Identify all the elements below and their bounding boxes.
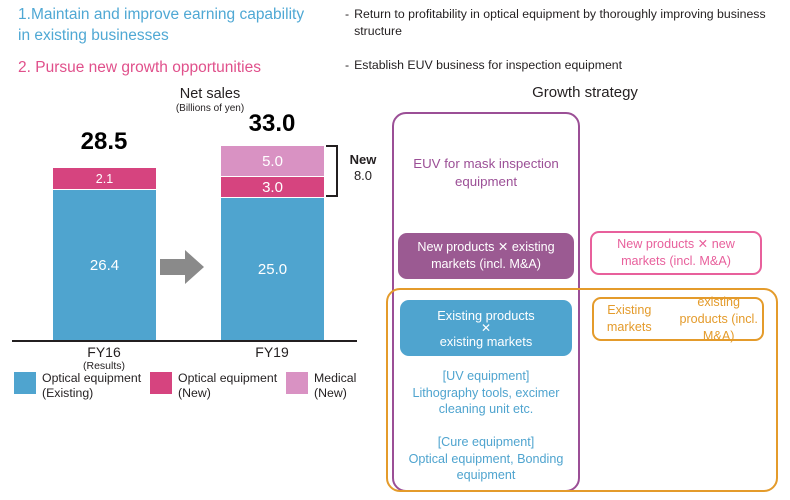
bar-segment-fy16-optical-existing: 26.4 — [53, 190, 156, 340]
header-item-2: 2. Pursue new growth opportunities — [18, 57, 338, 78]
pill-new-products-existing-markets[interactable]: New products ✕ existing markets (incl. M… — [398, 233, 574, 279]
new-total-annotation: New 8.0 — [340, 152, 386, 184]
legend-swatch-optical-new — [150, 372, 172, 394]
growth-arrow-icon — [160, 250, 204, 284]
bar-segment-fy19-medical-new: 5.0 — [221, 146, 324, 176]
equipment-detail-text: [UV equipment] Lithography tools, excime… — [396, 368, 576, 484]
slide-root: 1.Maintain and improve earning capabilit… — [0, 0, 790, 500]
bullet-dash-icon: - — [345, 6, 349, 39]
header-right-bullets: - Return to profitability in optical equ… — [345, 6, 783, 74]
bar-segment-fy16-optical-new: 2.1 — [53, 168, 156, 189]
header-item-1: 1.Maintain and improve earning capabilit… — [18, 4, 338, 46]
header-bullet-1-text: Return to profitability in optical equip… — [354, 6, 783, 39]
header-bullet-1: - Return to profitability in optical equ… — [345, 6, 783, 39]
bullet-dash-icon: - — [345, 57, 349, 74]
pill-em-ep-part-b: existing products (incl. M&A) — [675, 294, 762, 345]
bar-segment-fy19-optical-existing: 25.0 — [221, 198, 324, 340]
growth-strategy-title: Growth strategy — [440, 84, 730, 101]
bar-total-fy19: 33.0 — [212, 110, 332, 138]
x-tick-fy19: FY19 — [212, 344, 332, 360]
header-item-2-label: Pursue new growth opportunities — [35, 59, 261, 76]
header-bullet-2: - Establish EUV business for inspection … — [345, 57, 783, 74]
legend-swatch-medical-new — [286, 372, 308, 394]
pill-em-ep-part-a: Existing markets — [594, 302, 665, 336]
pill-existing-line2: existing markets — [440, 334, 532, 349]
header-item-1-number: 1. — [18, 6, 31, 23]
legend-label-optical-existing: Optical equipment (Existing) — [42, 371, 167, 401]
legend-label-medical-new: Medical (New) — [314, 371, 394, 401]
x-tick-fy16: FY16 — [44, 344, 164, 360]
new-total-bracket-icon — [326, 145, 338, 197]
header-bullet-2-text: Establish EUV business for inspection eq… — [354, 57, 622, 74]
euv-description: EUV for mask inspection equipment — [398, 155, 574, 191]
bar-segment-fy19-optical-new: 3.0 — [221, 177, 324, 197]
new-total-value: 8.0 — [340, 168, 386, 184]
chart-title: Net sales — [150, 86, 270, 102]
multiply-icon: ✕ — [481, 323, 491, 334]
header-item-1-label: Maintain and improve earning capability … — [18, 6, 304, 44]
header-left-items: 1.Maintain and improve earning capabilit… — [18, 4, 338, 78]
header-item-2-number: 2. — [18, 59, 35, 76]
new-total-label: New — [340, 152, 386, 168]
legend-label-optical-new: Optical equipment (New) — [178, 371, 303, 401]
pill-new-products-new-markets[interactable]: New products ✕ new markets (incl. M&A) — [590, 231, 762, 275]
bar-total-fy16: 28.5 — [44, 128, 164, 156]
pill-existing-products-existing-markets[interactable]: Existing products ✕ existing markets — [400, 300, 572, 356]
chart-axis-line — [12, 340, 357, 342]
pill-existing-markets-existing-products[interactable]: Existing marketsexisting products (incl.… — [592, 297, 764, 341]
legend-swatch-optical-existing — [14, 372, 36, 394]
